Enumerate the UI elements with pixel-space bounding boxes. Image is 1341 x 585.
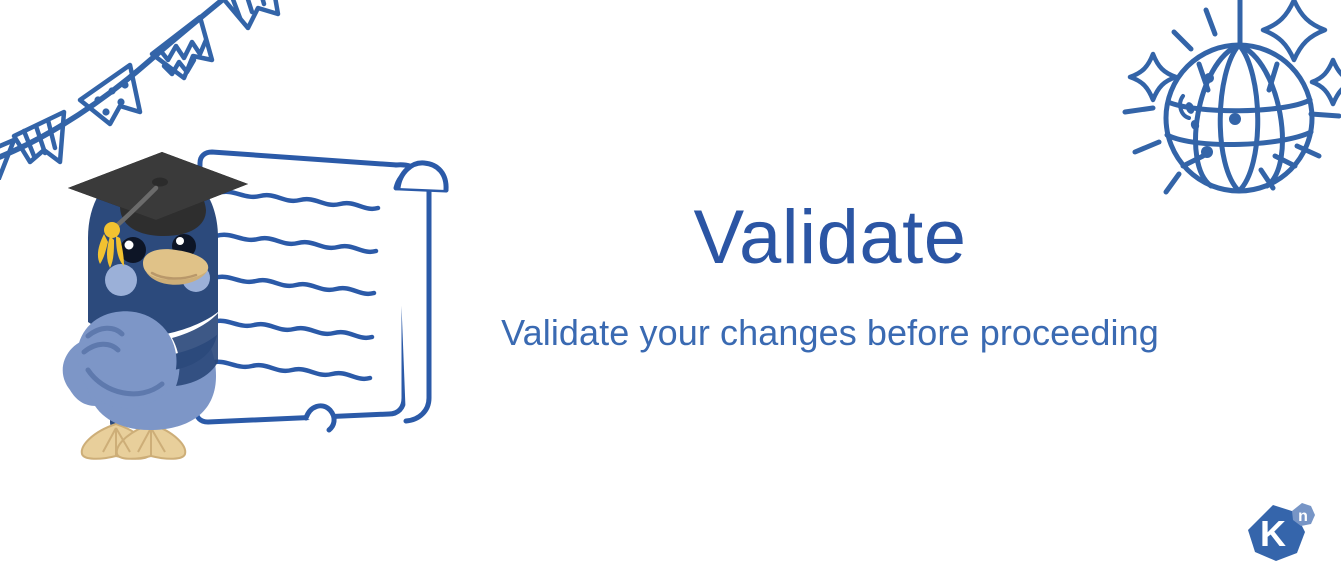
page-subtitle: Validate your changes before proceeding bbox=[470, 313, 1190, 353]
logo-letter-n: n bbox=[1298, 508, 1308, 525]
graduate-bird-mascot bbox=[63, 152, 248, 459]
party-bunting-flags bbox=[0, 0, 318, 180]
logo-letter-k: K bbox=[1260, 513, 1286, 554]
headline-block: Validate Validate your changes before pr… bbox=[470, 200, 1190, 353]
certificate-scroll bbox=[196, 152, 446, 430]
disco-ball-doodle bbox=[1111, 0, 1341, 229]
graduate-bird-and-scroll-illustration bbox=[48, 130, 468, 470]
slide-root: Validate Validate your changes before pr… bbox=[0, 0, 1341, 585]
page-title: Validate bbox=[470, 200, 1190, 276]
killercoda-logo[interactable]: K n bbox=[1241, 499, 1319, 573]
